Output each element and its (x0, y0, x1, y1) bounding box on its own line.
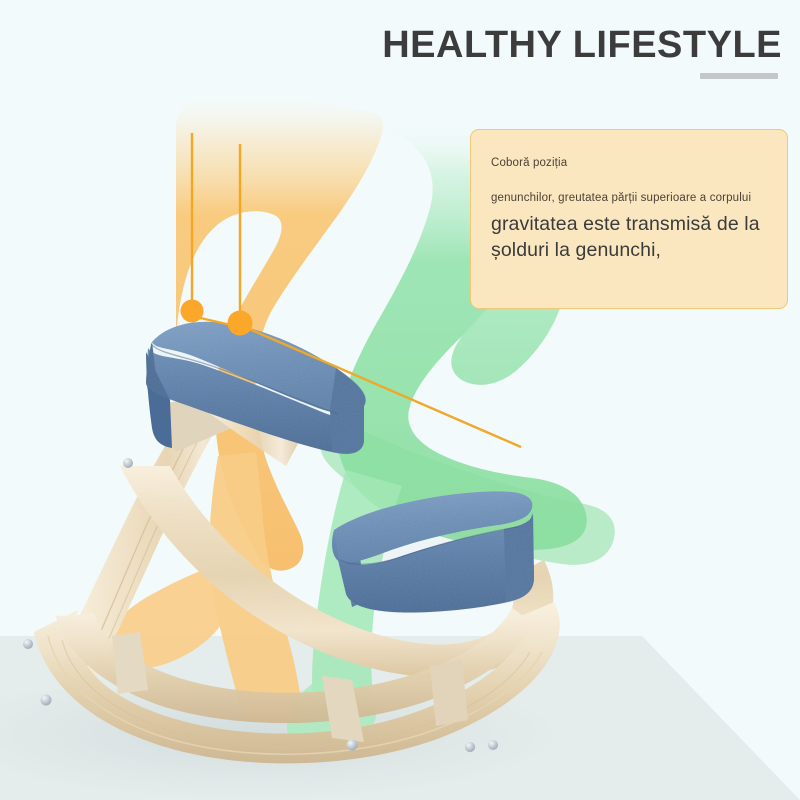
orange-posture-figure (107, 87, 383, 722)
floor-shadow (0, 690, 560, 800)
knee-marker (228, 311, 253, 336)
chair-upper-post (194, 382, 300, 466)
page-title: HEALTHY LIFESTYLE (382, 24, 782, 67)
force-transfer-guide (240, 325, 521, 447)
hip-marker (181, 300, 204, 323)
marker-dots (181, 300, 253, 336)
info-callout-box: Coboră poziția genunchilor, greutatea pă… (470, 129, 788, 309)
chair-front-post (56, 380, 236, 676)
cushion-edge-guide (192, 316, 252, 330)
callout-line-3: gravitatea este transmisă de la șolduri … (491, 212, 765, 263)
knee-cushion (332, 491, 534, 613)
product-infographic: HEALTHY LIFESTYLE Coboră poziția genunch… (0, 0, 800, 800)
seat-cushion (146, 322, 366, 454)
callout-line-1: Coboră poziția (491, 156, 765, 171)
title-underline-rule (700, 73, 778, 79)
chair-seat-brace (150, 396, 236, 452)
callout-line-2: genunchilor, greutatea părții superioare… (491, 191, 765, 206)
